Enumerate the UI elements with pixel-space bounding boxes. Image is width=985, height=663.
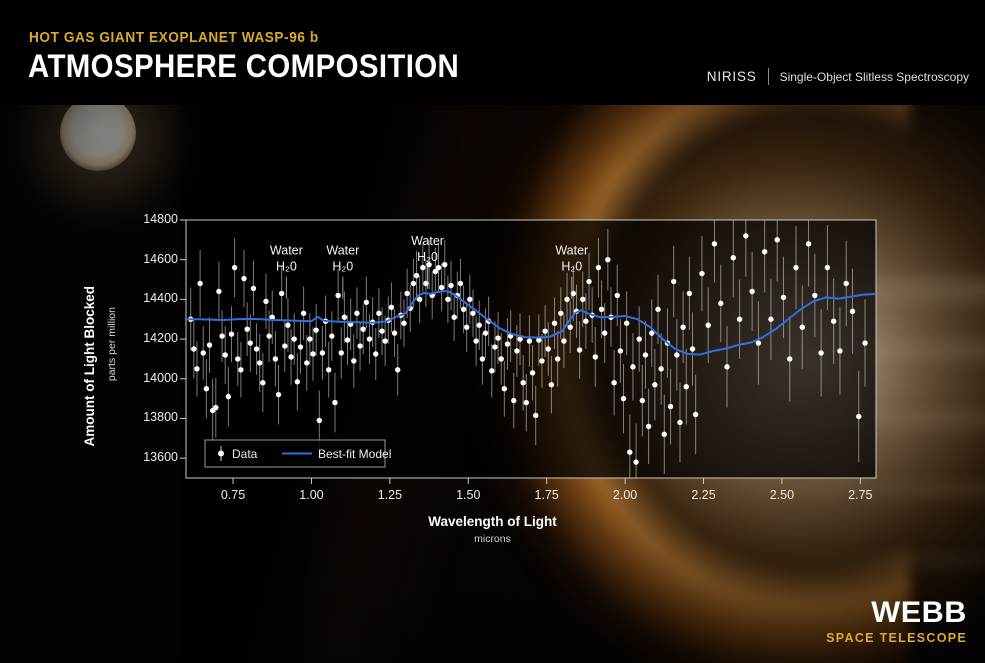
x-tick-label: 1.75 <box>521 488 573 502</box>
data-point <box>762 249 767 254</box>
data-point <box>420 265 425 270</box>
data-point <box>436 265 441 270</box>
data-point <box>480 356 485 361</box>
data-point <box>392 330 397 335</box>
data-point <box>445 297 450 302</box>
data-point <box>684 384 689 389</box>
data-point <box>787 356 792 361</box>
data-point <box>364 300 369 305</box>
data-point <box>768 317 773 322</box>
data-point <box>502 386 507 391</box>
data-point <box>279 291 284 296</box>
data-point <box>451 315 456 320</box>
data-point <box>263 299 268 304</box>
data-point <box>382 338 387 343</box>
data-point <box>618 348 623 353</box>
data-point <box>687 291 692 296</box>
data-point <box>577 347 582 352</box>
data-point <box>586 279 591 284</box>
annotation-water-label: Water <box>326 244 359 258</box>
x-tick-label: 2.75 <box>834 488 886 502</box>
x-tick-label: 2.50 <box>756 488 808 502</box>
data-point <box>499 356 504 361</box>
data-point <box>706 322 711 327</box>
data-point <box>304 360 309 365</box>
data-point <box>232 265 237 270</box>
data-point <box>806 241 811 246</box>
data-point <box>627 450 632 455</box>
page-title: ATMOSPHERE COMPOSITION <box>28 48 459 85</box>
data-point <box>690 346 695 351</box>
legend-data-marker <box>218 451 224 457</box>
data-point <box>533 413 538 418</box>
legend-label-model: Best-fit Model <box>318 447 391 461</box>
data-point <box>668 404 673 409</box>
data-point <box>643 352 648 357</box>
annotation-water-formula: H₂0 <box>332 260 353 274</box>
webb-logo-main: WEBB <box>823 598 967 628</box>
webb-logo: WEBB SPACE TELESCOPE <box>826 598 967 645</box>
data-point <box>357 343 362 348</box>
data-point <box>470 311 475 316</box>
data-point <box>223 352 228 357</box>
data-point <box>825 265 830 270</box>
data-point <box>292 336 297 341</box>
x-axis-title: Wavelength of Light <box>0 514 985 529</box>
x-tick-label: 1.50 <box>442 488 494 502</box>
data-point <box>580 297 585 302</box>
data-point <box>335 293 340 298</box>
y-tick-label: 14800 <box>130 212 178 226</box>
data-point <box>266 333 271 338</box>
data-point <box>546 346 551 351</box>
data-point <box>492 344 497 349</box>
data-point <box>862 340 867 345</box>
data-point <box>524 400 529 405</box>
annotation-water-formula: H₂0 <box>276 260 297 274</box>
data-point <box>439 285 444 290</box>
y-axis-title: Amount of Light Blocked <box>82 286 104 446</box>
data-point <box>850 309 855 314</box>
data-point <box>448 283 453 288</box>
data-point <box>520 380 525 385</box>
data-point <box>724 364 729 369</box>
data-point <box>339 350 344 355</box>
data-point <box>674 352 679 357</box>
data-point <box>461 307 466 312</box>
annotation-water-label: Water <box>411 234 444 248</box>
data-point <box>395 367 400 372</box>
data-point <box>530 370 535 375</box>
data-point <box>260 380 265 385</box>
data-point <box>599 307 604 312</box>
data-point <box>775 237 780 242</box>
data-point <box>204 386 209 391</box>
data-point <box>307 336 312 341</box>
data-point <box>511 398 516 403</box>
data-point <box>235 356 240 361</box>
data-point <box>257 360 262 365</box>
data-point <box>219 333 224 338</box>
data-point <box>317 418 322 423</box>
data-point <box>731 255 736 260</box>
data-point <box>856 414 861 419</box>
data-point <box>473 338 478 343</box>
data-point <box>655 307 660 312</box>
data-point <box>201 350 206 355</box>
data-point <box>417 297 422 302</box>
data-point <box>605 257 610 262</box>
data-point <box>467 297 472 302</box>
data-point <box>677 420 682 425</box>
data-point <box>558 311 563 316</box>
data-point <box>633 459 638 464</box>
data-point <box>611 380 616 385</box>
data-point <box>477 322 482 327</box>
data-point <box>621 396 626 401</box>
data-point <box>301 311 306 316</box>
y-tick-label: 14000 <box>130 371 178 385</box>
x-axis-units: microns <box>0 533 985 545</box>
data-point <box>273 356 278 361</box>
observation-mode: Single-Object Slitless Spectroscopy <box>780 70 969 84</box>
data-point <box>295 379 300 384</box>
data-point <box>568 324 573 329</box>
data-point <box>555 356 560 361</box>
data-point <box>442 262 447 267</box>
instrument-divider <box>768 68 769 85</box>
data-point <box>361 326 366 331</box>
data-point <box>662 432 667 437</box>
data-point <box>549 382 554 387</box>
data-point <box>320 350 325 355</box>
y-axis-units: parts per million <box>106 307 126 381</box>
y-tick-label: 14400 <box>130 291 178 305</box>
data-point <box>207 342 212 347</box>
data-point <box>329 333 334 338</box>
x-tick-label: 2.25 <box>678 488 730 502</box>
data-point <box>326 367 331 372</box>
data-point <box>646 424 651 429</box>
data-point <box>276 392 281 397</box>
data-point <box>458 281 463 286</box>
data-point <box>712 241 717 246</box>
data-point <box>288 354 293 359</box>
data-point <box>373 351 378 356</box>
data-point <box>197 281 202 286</box>
data-point <box>680 324 685 329</box>
data-point <box>630 364 635 369</box>
data-point <box>495 335 500 340</box>
data-point <box>671 279 676 284</box>
data-point <box>213 405 218 410</box>
data-point <box>332 400 337 405</box>
data-point <box>411 281 416 286</box>
data-point <box>401 321 406 326</box>
data-point <box>737 317 742 322</box>
instrument-name: NIRISS <box>707 69 757 84</box>
data-point <box>552 321 557 326</box>
data-point <box>812 293 817 298</box>
data-point <box>756 340 761 345</box>
data-point <box>593 354 598 359</box>
data-point <box>414 273 419 278</box>
data-point <box>699 271 704 276</box>
y-tick-label: 13600 <box>130 450 178 464</box>
data-point <box>658 366 663 371</box>
data-point <box>464 324 469 329</box>
data-point <box>781 295 786 300</box>
data-point <box>743 233 748 238</box>
header-kicker: HOT GAS GIANT EXOPLANET WASP-96 b <box>29 30 319 46</box>
data-point <box>489 368 494 373</box>
data-point <box>354 311 359 316</box>
webb-spectrum-graphic: HOT GAS GIANT EXOPLANET WASP-96 b ATMOSP… <box>0 0 985 663</box>
instrument-info: NIRISS Single-Object Slitless Spectrosco… <box>707 68 969 85</box>
data-point <box>191 346 196 351</box>
y-tick-label: 14200 <box>130 331 178 345</box>
data-point <box>749 289 754 294</box>
data-point <box>238 367 243 372</box>
data-point <box>718 301 723 306</box>
data-point <box>615 293 620 298</box>
x-tick-label: 1.25 <box>364 488 416 502</box>
data-point <box>345 337 350 342</box>
data-point <box>564 297 569 302</box>
data-point <box>693 412 698 417</box>
data-point <box>640 398 645 403</box>
data-point <box>483 330 488 335</box>
data-point <box>376 311 381 316</box>
data-point <box>241 276 246 281</box>
data-point <box>226 394 231 399</box>
annotation-water-label: Water <box>555 244 588 258</box>
data-point <box>652 382 657 387</box>
data-point <box>310 351 315 356</box>
data-point <box>254 346 259 351</box>
data-point <box>367 336 372 341</box>
x-tick-label: 1.00 <box>285 488 337 502</box>
y-tick-label: 14600 <box>130 252 178 266</box>
header-bar: HOT GAS GIANT EXOPLANET WASP-96 b ATMOSP… <box>0 0 985 105</box>
data-point <box>313 327 318 332</box>
data-point <box>216 289 221 294</box>
data-point <box>793 265 798 270</box>
x-tick-label: 0.75 <box>207 488 259 502</box>
data-point <box>194 366 199 371</box>
data-point <box>596 265 601 270</box>
annotation-water-label: Water <box>270 244 303 258</box>
data-point <box>298 344 303 349</box>
data-point <box>351 358 356 363</box>
data-point <box>404 291 409 296</box>
webb-logo-sub: SPACE TELESCOPE <box>826 631 967 645</box>
plot-panel <box>186 220 876 478</box>
annotation-water-formula: H₂0 <box>417 250 438 264</box>
data-point <box>602 330 607 335</box>
data-point <box>505 341 510 346</box>
data-point <box>379 328 384 333</box>
data-point <box>229 331 234 336</box>
data-point <box>837 348 842 353</box>
data-point <box>342 315 347 320</box>
data-point <box>542 328 547 333</box>
data-point <box>244 326 249 331</box>
data-point <box>539 358 544 363</box>
data-point <box>285 322 290 327</box>
data-point <box>251 286 256 291</box>
legend-label-data: Data <box>232 447 258 461</box>
y-tick-label: 13800 <box>130 410 178 424</box>
data-point <box>583 319 588 324</box>
data-point <box>248 340 253 345</box>
x-tick-label: 2.00 <box>599 488 651 502</box>
data-point <box>800 324 805 329</box>
legend[interactable]: DataBest-fit Model <box>205 440 391 467</box>
data-point <box>637 336 642 341</box>
data-point <box>527 338 532 343</box>
data-point <box>282 343 287 348</box>
data-point <box>389 305 394 310</box>
annotation-water-formula: H₂0 <box>561 260 582 274</box>
data-point <box>844 281 849 286</box>
data-point <box>831 319 836 324</box>
data-point <box>561 338 566 343</box>
data-point <box>818 350 823 355</box>
data-point <box>624 321 629 326</box>
data-point <box>514 348 519 353</box>
